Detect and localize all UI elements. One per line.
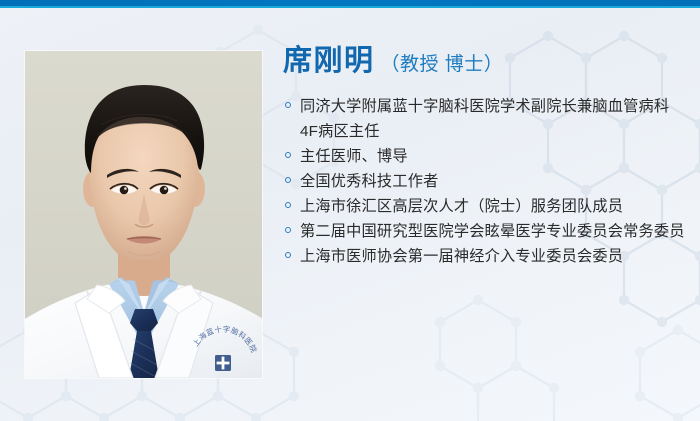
list-item-text: 第二届中国研究型医院学会眩晕医学专业委员会常务委员: [300, 223, 685, 240]
list-item: 上海市徐汇区高层次人才（院士）服务团队成员: [283, 194, 685, 219]
profile-content: 席刚明 （教授 博士） 同济大学附属蓝十字脑科医院学术副院长兼脑血管病科4F病区…: [283, 46, 685, 269]
list-item: 第二届中国研究型医院学会眩晕医学专业委员会常务委员: [283, 219, 685, 244]
bullet-circle-icon: [285, 177, 291, 183]
bullet-circle-icon: [285, 102, 291, 108]
list-item: 上海市医师协会第一届神经介入专业委员会委员: [283, 244, 685, 269]
doctor-credentials: （教授 博士）: [381, 55, 504, 76]
list-item: 全国优秀科技工作者: [283, 169, 685, 194]
bullet-circle-icon: [285, 252, 291, 258]
doctor-profile-slide: 上海蓝十字脑科医院 席刚明 （教授 博士） 同济大学附属蓝十字脑科医院学术副院长…: [0, 0, 700, 421]
doctor-name: 席刚明: [283, 46, 375, 78]
doctor-name-row: 席刚明 （教授 博士）: [283, 46, 685, 78]
top-accent-line: [0, 6, 700, 8]
list-item-text: 全国优秀科技工作者: [300, 173, 439, 190]
list-item: 同济大学附属蓝十字脑科医院学术副院长兼脑血管病科4F病区主任: [283, 94, 685, 144]
list-item: 主任医师、博导: [283, 144, 685, 169]
bullet-circle-icon: [285, 152, 291, 158]
credentials-list: 同济大学附属蓝十字脑科医院学术副院长兼脑血管病科4F病区主任 主任医师、博导 全…: [283, 94, 685, 269]
portrait-illustration: 上海蓝十字脑科医院: [25, 51, 262, 378]
list-item-text: 主任医师、博导: [300, 148, 408, 165]
doctor-portrait-photo: 上海蓝十字脑科医院: [25, 51, 262, 378]
bullet-circle-icon: [285, 227, 291, 233]
list-item-text: 上海市徐汇区高层次人才（院士）服务团队成员: [300, 198, 623, 215]
list-item-text: 同济大学附属蓝十字脑科医院学术副院长兼脑血管病科4F病区主任: [300, 98, 669, 140]
list-item-text: 上海市医师协会第一届神经介入专业委员会委员: [300, 248, 623, 265]
bullet-circle-icon: [285, 202, 291, 208]
